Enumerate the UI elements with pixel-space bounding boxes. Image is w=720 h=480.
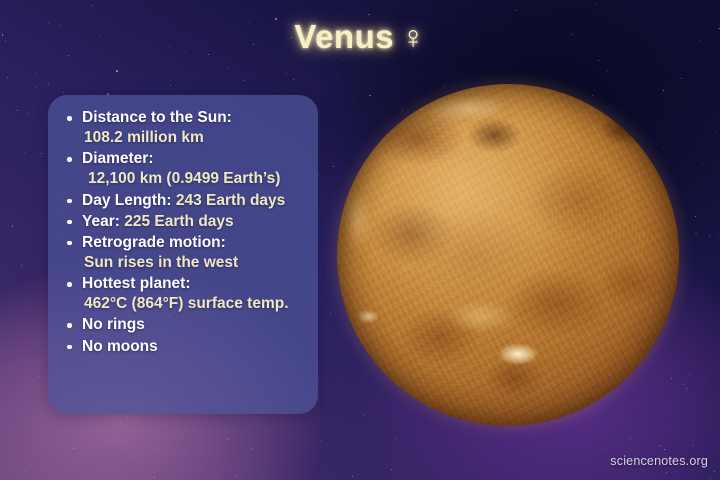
fact-item: No rings [62, 315, 308, 335]
fact-item: Distance to the Sun:108.2 million km [62, 108, 308, 148]
facts-panel: Distance to the Sun:108.2 million kmDiam… [48, 95, 318, 414]
fact-label: Day Length: [82, 192, 172, 209]
fact-value: Sun rises in the west [82, 253, 308, 273]
fact-value: 12,100 km (0.9499 Earth’s) [82, 169, 308, 189]
fact-item: No moons [62, 337, 308, 357]
fact-label: Retrograde motion: [82, 234, 226, 251]
fact-label: Distance to the Sun: [82, 109, 232, 126]
fact-label: No moons [82, 338, 158, 355]
fact-value: 108.2 million km [82, 128, 308, 148]
fact-value: 462°C (864°F) surface temp. [82, 294, 308, 314]
fact-item: Diameter:12,100 km (0.9499 Earth’s) [62, 149, 308, 189]
page-title: Venus♀ [0, 18, 720, 56]
fact-item: Hottest planet:462°C (864°F) surface tem… [62, 274, 308, 314]
fact-value: 243 Earth days [172, 192, 286, 209]
fact-item: Year: 225 Earth days [62, 212, 308, 232]
fact-label: No rings [82, 316, 145, 333]
fact-value: 225 Earth days [120, 213, 234, 230]
facts-list: Distance to the Sun:108.2 million kmDiam… [62, 108, 308, 357]
fact-item: Day Length: 243 Earth days [62, 191, 308, 211]
fact-label: Hottest planet: [82, 275, 191, 292]
venus-symbol-icon: ♀ [401, 19, 426, 55]
planet-rim-shadow [337, 84, 679, 426]
fact-label: Year: [82, 213, 120, 230]
venus-planet-image [337, 84, 679, 426]
fact-label: Diameter: [82, 150, 154, 167]
venus-infographic: Venus♀ Distance to the Sun:108.2 million… [0, 0, 720, 480]
watermark: sciencenotes.org [610, 454, 708, 468]
page-title-text: Venus [294, 18, 394, 55]
fact-item: Retrograde motion:Sun rises in the west [62, 233, 308, 273]
